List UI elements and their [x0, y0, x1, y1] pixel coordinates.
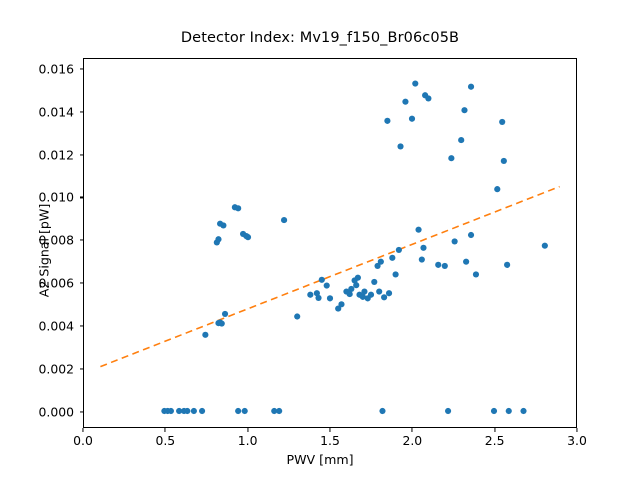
x-tick-label: 0.0: [53, 433, 113, 448]
plot-area: [83, 58, 577, 428]
x-tick-mark: [165, 428, 166, 432]
scatter-point: [184, 408, 190, 414]
scatter-point: [402, 99, 408, 105]
scatter-point: [448, 155, 454, 161]
scatter-point: [381, 294, 387, 300]
x-tick-mark: [576, 428, 577, 432]
y-axis-label: A2 Signal [pW]: [37, 101, 52, 401]
scatter-points: [161, 80, 548, 414]
scatter-point: [452, 238, 458, 244]
scatter-point: [217, 319, 223, 325]
scatter-point: [397, 143, 403, 149]
x-tick-label: 1.0: [218, 433, 278, 448]
scatter-point: [235, 408, 241, 414]
scatter-point: [307, 292, 313, 298]
x-tick-label: 1.5: [300, 433, 360, 448]
scatter-point: [445, 408, 451, 414]
scatter-point: [315, 295, 321, 301]
scatter-point: [506, 408, 512, 414]
scatter-plot-svg: [84, 59, 576, 427]
scatter-point: [491, 408, 497, 414]
x-tick-label: 2.0: [382, 433, 442, 448]
scatter-point: [353, 282, 359, 288]
scatter-point: [379, 408, 385, 414]
scatter-point: [396, 247, 402, 253]
scatter-point: [468, 84, 474, 90]
scatter-point: [409, 116, 415, 122]
scatter-point: [371, 279, 377, 285]
scatter-point: [348, 286, 354, 292]
scatter-point: [327, 295, 333, 301]
trendline: [100, 187, 559, 367]
scatter-point: [542, 243, 548, 249]
x-tick-mark: [494, 428, 495, 432]
scatter-point: [368, 292, 374, 298]
scatter-point: [376, 288, 382, 294]
scatter-point: [415, 227, 421, 233]
scatter-point: [461, 107, 467, 113]
scatter-point: [420, 245, 426, 251]
scatter-point: [501, 158, 507, 164]
scatter-point: [215, 236, 221, 242]
y-tick-label: 0.016: [0, 61, 74, 76]
scatter-point: [442, 263, 448, 269]
scatter-point: [468, 232, 474, 238]
scatter-point: [202, 332, 208, 338]
scatter-point: [435, 262, 441, 268]
scatter-point: [191, 408, 197, 414]
y-tick-label: 0.000: [0, 404, 74, 419]
scatter-point: [338, 301, 344, 307]
x-tick-mark: [247, 428, 248, 432]
scatter-point: [419, 256, 425, 262]
scatter-point: [384, 118, 390, 124]
scatter-point: [222, 311, 228, 317]
scatter-point: [235, 205, 241, 211]
x-axis-label: PWV [mm]: [0, 452, 640, 467]
scatter-point: [389, 255, 395, 261]
scatter-point: [393, 271, 399, 277]
x-tick-mark: [329, 428, 330, 432]
scatter-point: [199, 408, 205, 414]
scatter-point: [425, 95, 431, 101]
scatter-point: [504, 262, 510, 268]
scatter-point: [458, 137, 464, 143]
x-tick-mark: [412, 428, 413, 432]
scatter-point: [378, 259, 384, 265]
scatter-point: [412, 80, 418, 86]
scatter-point: [319, 277, 325, 283]
scatter-point: [520, 408, 526, 414]
scatter-point: [168, 408, 174, 414]
scatter-point: [294, 313, 300, 319]
scatter-point: [386, 290, 392, 296]
figure-canvas: Detector Index: Mv19_f150_Br06c05B A2 Si…: [0, 0, 640, 480]
x-tick-label: 3.0: [547, 433, 607, 448]
scatter-point: [355, 275, 361, 281]
x-tick-label: 0.5: [135, 433, 195, 448]
scatter-point: [281, 217, 287, 223]
scatter-point: [494, 186, 500, 192]
scatter-point: [245, 234, 251, 240]
scatter-point: [473, 271, 479, 277]
x-tick-label: 2.5: [465, 433, 525, 448]
scatter-point: [220, 222, 226, 228]
chart-title: Detector Index: Mv19_f150_Br06c05B: [0, 30, 640, 46]
scatter-point: [463, 259, 469, 265]
scatter-point: [324, 282, 330, 288]
scatter-point: [499, 119, 505, 125]
trendline-segment: [100, 187, 559, 367]
scatter-point: [361, 288, 367, 294]
scatter-point: [276, 408, 282, 414]
x-tick-mark: [82, 428, 83, 432]
scatter-point: [242, 408, 248, 414]
